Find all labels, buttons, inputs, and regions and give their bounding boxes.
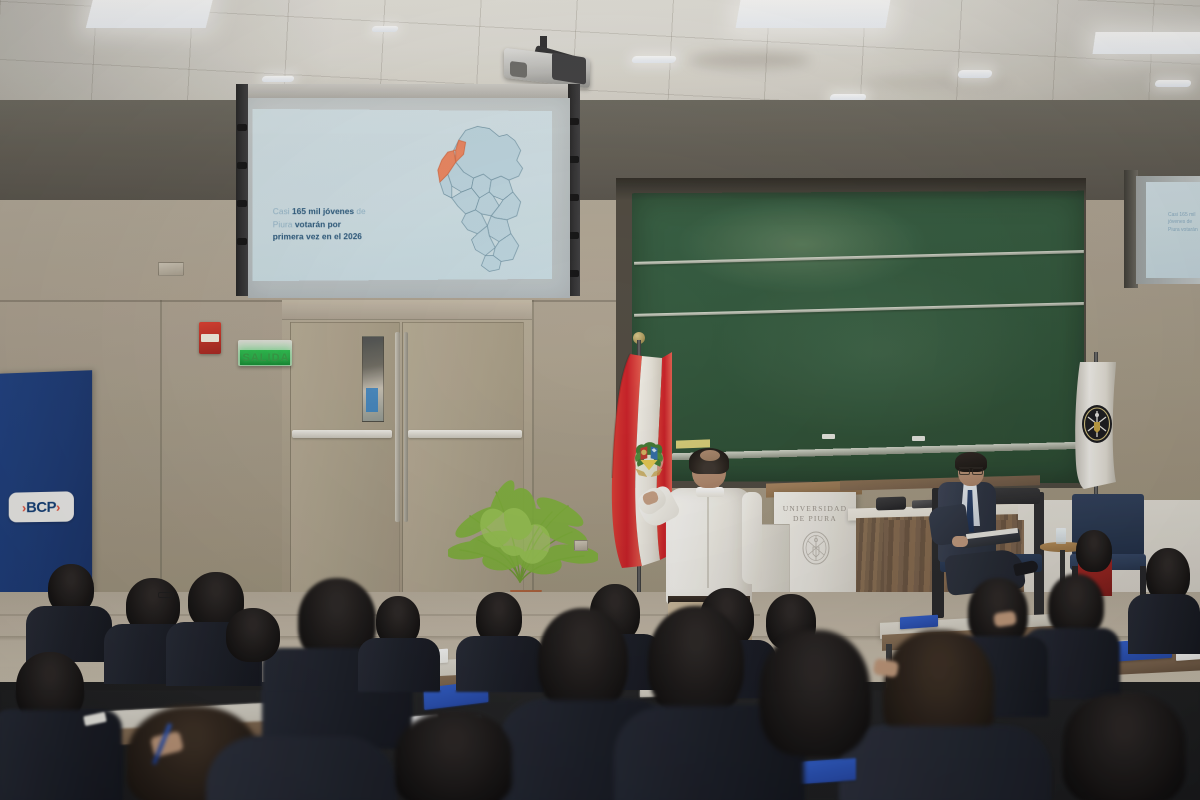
exit-sign-label: SALIDA	[240, 352, 292, 364]
presenter-shirt	[666, 488, 752, 604]
bcp-chevron-right-icon: ›	[56, 499, 60, 514]
bcp-logo: › BCP ›	[9, 491, 74, 522]
audience-body	[0, 710, 122, 800]
panelist-hand	[952, 536, 968, 547]
blue-folder	[800, 758, 856, 784]
ceiling-downlight	[1154, 80, 1191, 87]
ceiling-panel-light	[86, 0, 214, 28]
panic-bar-right[interactable]	[408, 430, 522, 438]
secondary-screen-caption: Casi 165 mil jóvenes de Piura votarán	[1168, 212, 1200, 234]
podium-institution-name: UNIVERSIDAD DE PIURA	[778, 504, 852, 524]
av-equipment	[876, 496, 906, 510]
palm-plant	[448, 462, 598, 612]
audience-body	[456, 636, 544, 692]
audience-head-foreground	[538, 608, 628, 712]
presenter-collar	[696, 487, 724, 497]
secondary-slide-line3: Piura votarán	[1168, 227, 1198, 233]
chalkboard-top-shadow	[616, 178, 1086, 200]
audience-head-foreground	[396, 712, 512, 800]
slide-text-line1-bold: 165 mil jóvenes	[292, 207, 354, 216]
slide-text-line1-prefix: Casi	[273, 207, 292, 216]
slide-text-line1-suffix: de	[354, 207, 366, 216]
audience-head	[226, 608, 280, 662]
udep-crest-icon	[800, 530, 832, 566]
udep-flag	[1072, 360, 1122, 490]
ceiling-panel-light	[736, 0, 891, 28]
audience-head-foreground	[648, 606, 744, 718]
slide-text-line3-bold: primera vez en el 2026	[273, 232, 362, 241]
bcp-wordmark: BCP	[26, 499, 56, 515]
secondary-slide-line1: Casi 165 mil	[1168, 212, 1196, 218]
audience-body	[358, 638, 440, 692]
door-handle-right[interactable]	[404, 332, 408, 522]
presenter-shirt-seam	[707, 496, 709, 588]
projection-screen-rail-left	[236, 84, 248, 296]
ceiling-downlight	[957, 70, 993, 78]
panelist-glasses	[959, 467, 983, 472]
audience-glasses	[158, 592, 174, 598]
ceiling-downlight	[261, 76, 294, 82]
projector-lens	[510, 61, 527, 78]
podium-line1: UNIVERSIDAD	[783, 504, 847, 513]
ceiling-downlight	[371, 26, 398, 32]
door-window-reflection	[366, 388, 378, 412]
secondary-slide-line2: jóvenes de	[1168, 219, 1192, 225]
door-transom	[282, 300, 532, 320]
panic-bar-left[interactable]	[292, 430, 392, 438]
wall-vent	[158, 262, 184, 276]
light-switch[interactable]	[574, 540, 588, 551]
slide-text-line2-prefix: Piura	[273, 220, 295, 229]
ceiling-stain	[860, 76, 1010, 90]
lecture-hall-photograph: Casi 165 mil jóvenes de Piura votarán po…	[0, 0, 1200, 800]
water-glass	[1056, 528, 1066, 544]
slide-text-line2-bold: votarán por	[295, 220, 341, 229]
peru-map-graphic	[404, 122, 548, 274]
chalk-eraser	[912, 436, 925, 441]
presenter-right-arm	[742, 492, 762, 584]
door-handle-left[interactable]	[395, 332, 400, 522]
slide-caption: Casi 165 mil jóvenes de Piura votarán po…	[273, 206, 424, 244]
presentation-slide: Casi 165 mil jóvenes de Piura votarán po…	[252, 109, 552, 281]
presenter-scalp	[700, 450, 720, 461]
ceiling-panel-light	[1092, 32, 1200, 54]
audience-head-foreground	[1064, 694, 1184, 800]
ceiling-stain	[690, 52, 810, 68]
audience-body	[1128, 594, 1200, 654]
wall-joint	[160, 300, 162, 600]
audience-body-foreground	[206, 736, 396, 800]
audience-head	[1076, 530, 1112, 572]
ceiling-downlight	[631, 56, 677, 63]
projector-rear-housing	[552, 52, 586, 84]
fire-alarm-label-plate	[201, 334, 219, 342]
wall-seam	[0, 300, 282, 302]
audience-body-foreground	[840, 726, 1050, 800]
peru-flag	[608, 348, 672, 570]
audience-head-foreground	[760, 630, 870, 756]
podium-line2: DE PIURA	[793, 514, 837, 523]
chalk-eraser	[822, 434, 835, 439]
